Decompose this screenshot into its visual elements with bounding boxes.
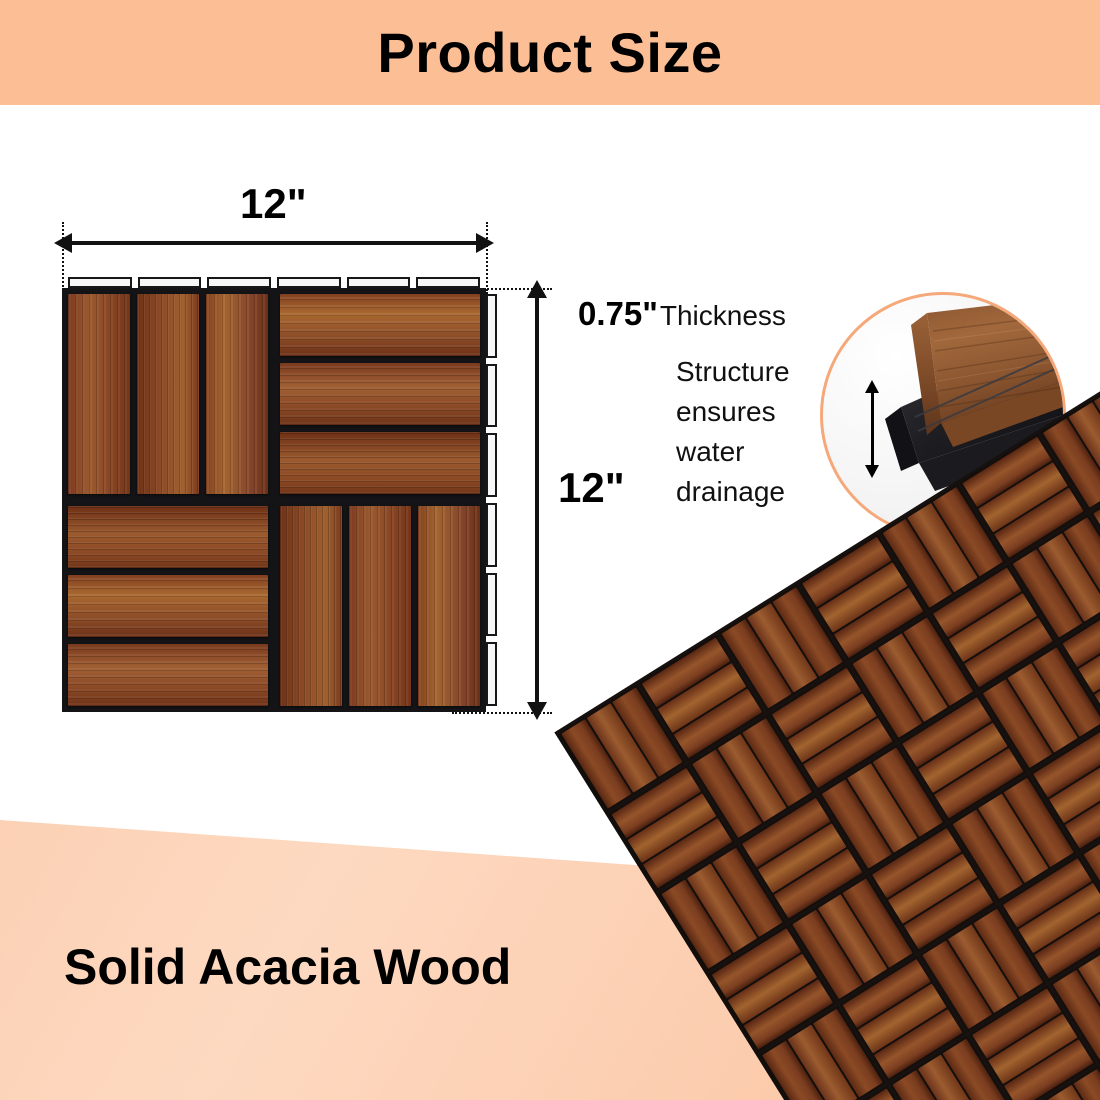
interlock-tab <box>486 503 497 567</box>
interlock-tab <box>486 642 497 706</box>
tile-quadrant-bottom-left <box>62 500 274 712</box>
thickness-callout: 0.75" Thickness <box>578 295 786 333</box>
wood-slat <box>280 432 480 494</box>
drainage-description: Structure ensures water drainage <box>676 352 826 512</box>
thickness-arrow-icon <box>871 391 874 467</box>
wood-slat <box>418 506 480 706</box>
tile-right-interlock-tabs <box>486 294 497 706</box>
wood-slat <box>68 644 268 706</box>
footer-title: Solid Acacia Wood <box>64 938 511 996</box>
wood-slat <box>280 506 342 706</box>
width-dimension-arrow <box>70 241 478 245</box>
wood-slat <box>206 294 268 494</box>
wood-slat <box>68 506 268 568</box>
wood-slat <box>68 294 130 494</box>
thickness-value: 0.75" <box>578 295 658 333</box>
interlock-tab <box>277 277 341 288</box>
wood-slat <box>137 294 199 494</box>
height-label: 12" <box>558 464 625 512</box>
interlock-tab <box>347 277 411 288</box>
product-size-infographic: Product Size 12" 12" <box>0 0 1100 1100</box>
interlock-tab <box>138 277 202 288</box>
interlock-tab <box>68 277 132 288</box>
wood-slat <box>68 575 268 637</box>
wood-slat <box>280 363 480 425</box>
tile-quadrant-top-left <box>62 288 274 500</box>
tile-quadrant-top-right <box>274 288 486 500</box>
page-title: Product Size <box>0 0 1100 105</box>
tile-top-interlock-tabs <box>68 277 480 288</box>
width-label: 12" <box>240 180 307 228</box>
height-dimension-arrow <box>535 296 539 704</box>
thickness-word: Thickness <box>660 300 786 332</box>
deck-tile-top-view <box>62 288 486 712</box>
interlock-tab <box>207 277 271 288</box>
interlock-tab <box>486 433 497 497</box>
wood-slat <box>280 294 480 356</box>
interlock-tab <box>486 573 497 637</box>
interlock-tab <box>486 364 497 428</box>
tile-quadrant-bottom-right <box>274 500 486 712</box>
wood-slat <box>349 506 411 706</box>
interlock-tab <box>486 294 497 358</box>
interlock-tab <box>416 277 480 288</box>
